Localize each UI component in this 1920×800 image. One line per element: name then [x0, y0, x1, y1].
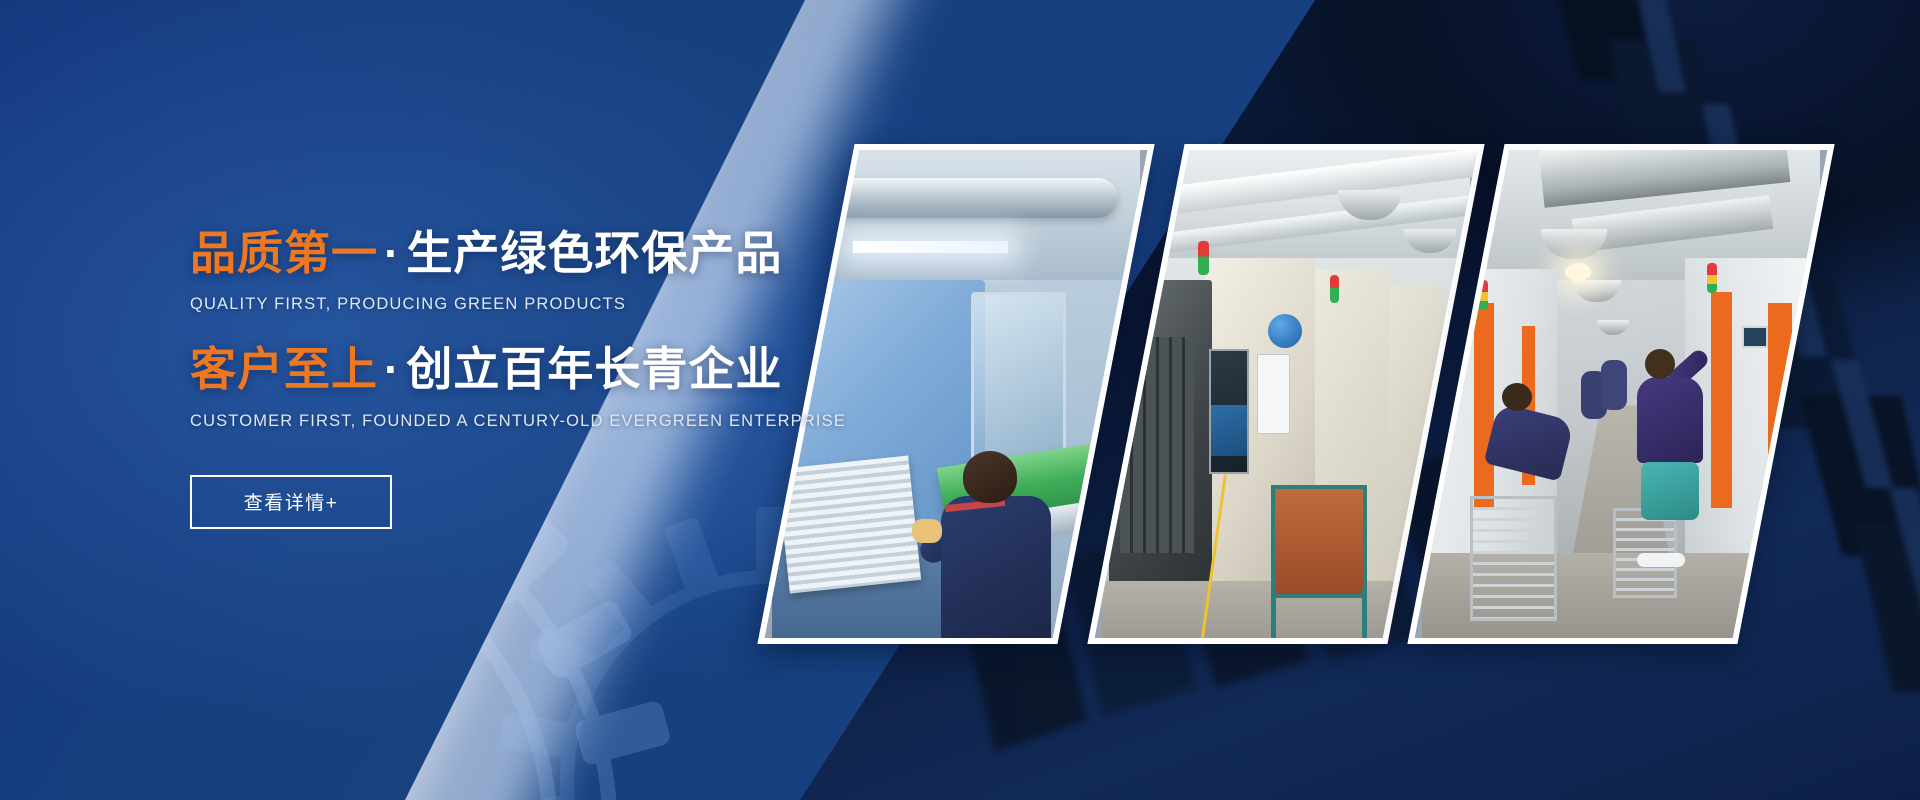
- copy-spacer: [190, 314, 950, 342]
- headline-secondary: 客户至上·创立百年长青企业: [190, 342, 950, 396]
- subtitle-primary: QUALITY FIRST, PRODUCING GREEN PRODUCTS: [190, 295, 950, 314]
- headline-accent-text: 品质第一: [190, 227, 378, 279]
- workshop-aisle-photo[interactable]: [1407, 144, 1834, 644]
- headline-accent-text: 客户至上: [190, 343, 378, 395]
- view-details-button[interactable]: 查看详情+: [190, 475, 392, 529]
- headline-plain-text: 生产绿色环保产品: [406, 227, 782, 279]
- subtitle-secondary: CUSTOMER FIRST, FOUNDED A CENTURY-OLD EV…: [190, 412, 950, 431]
- headline-separator: ·: [378, 227, 406, 279]
- hero-copy: 品质第一·生产绿色环保产品 QUALITY FIRST, PRODUCING G…: [190, 226, 950, 529]
- headline-separator: ·: [378, 343, 406, 395]
- hero-banner: 品质第一·生产绿色环保产品 QUALITY FIRST, PRODUCING G…: [0, 0, 1920, 800]
- headline-primary: 品质第一·生产绿色环保产品: [190, 226, 950, 280]
- headline-plain-text: 创立百年长青企业: [406, 343, 782, 395]
- photo-collage: [806, 150, 1916, 670]
